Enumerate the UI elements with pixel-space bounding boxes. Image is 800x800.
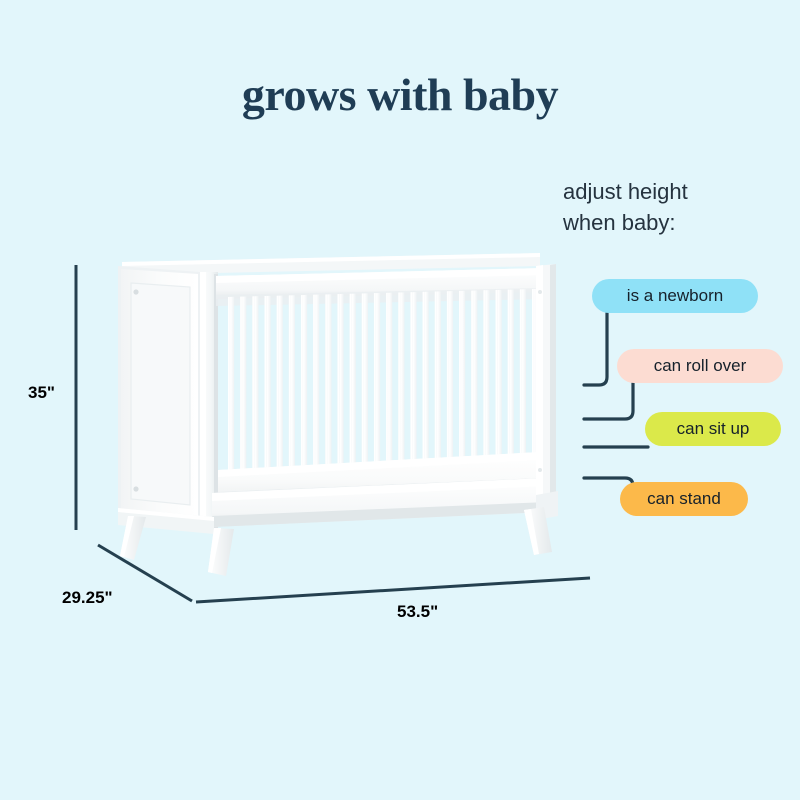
crib-slat-highlight bbox=[532, 289, 534, 480]
crib-slat-highlight bbox=[313, 295, 315, 493]
dimension-label-width: 53.5" bbox=[397, 602, 438, 622]
pill-is-a-newborn[interactable]: is a newborn bbox=[592, 279, 758, 313]
crib-slat-highlight bbox=[483, 290, 485, 483]
crib-slat-highlight bbox=[423, 292, 425, 486]
crib-slat-highlight bbox=[362, 293, 364, 489]
crib-slat-highlight bbox=[240, 297, 242, 497]
pill-can-stand[interactable]: can stand bbox=[620, 482, 748, 516]
crib-slat-highlight bbox=[228, 297, 230, 497]
crib-slat-highlight bbox=[435, 291, 437, 485]
dimension-line-width bbox=[196, 578, 590, 602]
crib-slat-highlight bbox=[264, 296, 266, 495]
crib-slat-highlight bbox=[508, 290, 510, 482]
crib-slat-highlight bbox=[447, 291, 449, 485]
crib-slat-highlight bbox=[386, 293, 388, 488]
pill-can-sit-up[interactable]: can sit up bbox=[645, 412, 781, 446]
crib-slat-highlight bbox=[520, 289, 522, 480]
crib-slat-highlight bbox=[496, 290, 498, 482]
connector-can-roll-over bbox=[584, 383, 633, 419]
callout-intro: adjust height when baby: bbox=[563, 176, 793, 238]
dimension-label-height: 35" bbox=[28, 383, 55, 403]
crib-slat-highlight bbox=[350, 294, 352, 491]
callout-intro-line-2: when baby: bbox=[563, 207, 793, 238]
connector-is-a-newborn bbox=[584, 313, 607, 385]
crib-slat-highlight bbox=[410, 292, 412, 487]
crib-left-end-panel bbox=[118, 266, 200, 520]
crib-slat-highlight bbox=[398, 292, 400, 487]
crib-slat-highlight bbox=[374, 293, 376, 489]
crib-slat-highlight bbox=[252, 296, 254, 495]
crib-slat-highlight bbox=[459, 291, 461, 484]
illustration-canvas: grows with baby adjust height when baby: bbox=[0, 0, 800, 800]
crib-slat-highlight bbox=[337, 294, 339, 491]
crib-slat-highlight bbox=[289, 295, 291, 493]
callout-intro-line-1: adjust height bbox=[563, 176, 793, 207]
page-title: grows with baby bbox=[0, 68, 800, 121]
crib-right-post bbox=[536, 264, 558, 520]
crib-slat-highlight bbox=[325, 294, 327, 491]
crib-slat-highlight bbox=[301, 295, 303, 493]
crib-slat-highlight bbox=[471, 291, 473, 484]
crib-slat-highlight bbox=[277, 296, 279, 495]
dimension-label-depth: 29.25" bbox=[62, 588, 113, 608]
pill-can-roll-over[interactable]: can roll over bbox=[617, 349, 783, 383]
